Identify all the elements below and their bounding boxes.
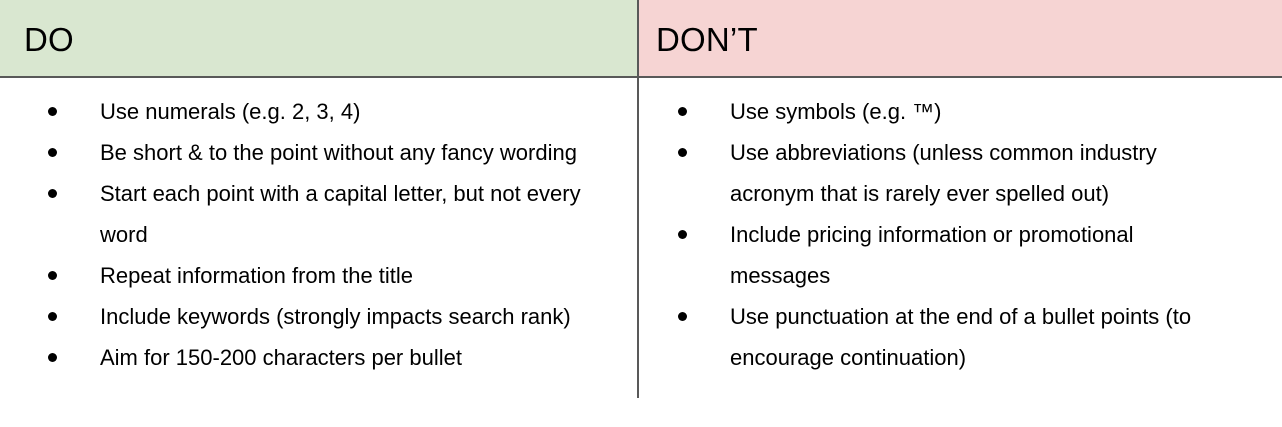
bullet-dot-icon — [48, 107, 57, 116]
list-item-text: Start each point with a capital letter, … — [100, 181, 581, 247]
list-item: Include keywords (strongly impacts searc… — [48, 296, 637, 337]
bullet-dot-icon — [678, 107, 687, 116]
list-item: Use punctuation at the end of a bullet p… — [678, 296, 1200, 378]
bullet-dot-icon — [48, 189, 57, 198]
table-body-row: Use numerals (e.g. 2, 3, 4) Be short & t… — [0, 78, 1282, 427]
list-item: Repeat information from the title — [48, 255, 637, 296]
list-item-text: Include pricing information or promotion… — [730, 222, 1134, 288]
list-item-text: Be short & to the point without any fanc… — [100, 140, 577, 165]
bullet-dot-icon — [48, 271, 57, 280]
list-item-text: Aim for 150-200 characters per bullet — [100, 345, 462, 370]
bullet-dot-icon — [678, 230, 687, 239]
column-header-dont-label: DON’T — [656, 23, 758, 56]
bullet-dot-icon — [48, 312, 57, 321]
header-cell-do: DO — [0, 0, 637, 78]
bullet-dot-icon — [48, 353, 57, 362]
list-item: Include pricing information or promotion… — [678, 214, 1200, 296]
list-item: Aim for 150-200 characters per bullet — [48, 337, 637, 378]
list-item-text: Repeat information from the title — [100, 263, 413, 288]
body-cell-do: Use numerals (e.g. 2, 3, 4) Be short & t… — [0, 78, 637, 427]
list-item-text: Use abbreviations (unless common industr… — [730, 140, 1157, 206]
list-item: Be short & to the point without any fanc… — [48, 132, 637, 173]
do-dont-comparison-table: DO DON’T Use numerals (e.g. 2, 3, 4) Be … — [0, 0, 1282, 427]
list-item: Use numerals (e.g. 2, 3, 4) — [48, 91, 637, 132]
table-header-row: DO DON’T — [0, 0, 1282, 78]
list-item: Use symbols (e.g. ™) — [678, 91, 1282, 132]
bullet-dot-icon — [48, 148, 57, 157]
body-cell-dont: Use symbols (e.g. ™) Use abbreviations (… — [637, 78, 1282, 427]
dont-bullet-list: Use symbols (e.g. ™) Use abbreviations (… — [678, 91, 1282, 378]
list-item: Use abbreviations (unless common industr… — [678, 132, 1200, 214]
column-header-do-label: DO — [24, 23, 74, 56]
bullet-dot-icon — [678, 312, 687, 321]
header-cell-dont: DON’T — [637, 0, 1282, 78]
list-item-text: Use symbols (e.g. ™) — [730, 99, 942, 124]
list-item-text: Use numerals (e.g. 2, 3, 4) — [100, 99, 360, 124]
list-item-text: Include keywords (strongly impacts searc… — [100, 304, 571, 329]
column-divider — [637, 78, 639, 398]
bullet-dot-icon — [678, 148, 687, 157]
do-bullet-list: Use numerals (e.g. 2, 3, 4) Be short & t… — [48, 91, 637, 378]
list-item-text: Use punctuation at the end of a bullet p… — [730, 304, 1191, 370]
list-item: Start each point with a capital letter, … — [48, 173, 625, 255]
